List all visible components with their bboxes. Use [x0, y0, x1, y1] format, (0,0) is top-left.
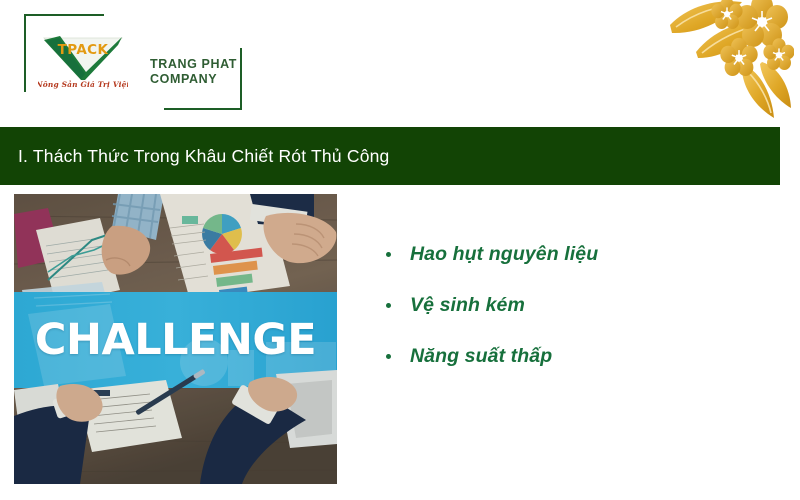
- list-item: Hao hụt nguyên liệu: [382, 243, 772, 266]
- svg-text:Nông Sản Giá Trị Việt: Nông Sản Giá Trị Việt: [38, 80, 128, 89]
- bullet-dot-icon: [386, 252, 391, 257]
- list-item: Vệ sinh kém: [382, 294, 772, 317]
- challenge-bullet-list: Hao hụt nguyên liệu Vệ sinh kém Năng suấ…: [382, 243, 772, 368]
- list-item-label: Hao hụt nguyên liệu: [410, 243, 598, 265]
- svg-text:TPACK: TPACK: [58, 42, 109, 58]
- slide-canvas: TPACK Nông Sản Giá Trị Việt TRANG PHAT C…: [0, 0, 800, 500]
- list-item-label: Vệ sinh kém: [410, 294, 525, 316]
- business-meeting-photo: CHALLENGE: [14, 194, 337, 484]
- company-name-line2: COMPANY: [150, 72, 260, 87]
- bullet-dot-icon: [386, 354, 391, 359]
- brand-block: TPACK Nông Sản Giá Trị Việt TRANG PHAT C…: [24, 14, 244, 98]
- page-title: I. Thách Thức Trong Khâu Chiết Rót Thủ C…: [0, 146, 390, 167]
- bullet-dot-icon: [386, 303, 391, 308]
- section-title-banner: I. Thách Thức Trong Khâu Chiết Rót Thủ C…: [0, 127, 780, 185]
- apricot-blossom-ornament-icon: [634, 0, 794, 125]
- company-name: TRANG PHAT COMPANY: [150, 57, 260, 87]
- company-name-line1: TRANG PHAT: [150, 57, 260, 72]
- tpack-logo-icon: TPACK Nông Sản Giá Trị Việt: [38, 28, 128, 90]
- list-item: Năng suất thấp: [382, 345, 772, 368]
- list-item-label: Năng suất thấp: [410, 345, 552, 367]
